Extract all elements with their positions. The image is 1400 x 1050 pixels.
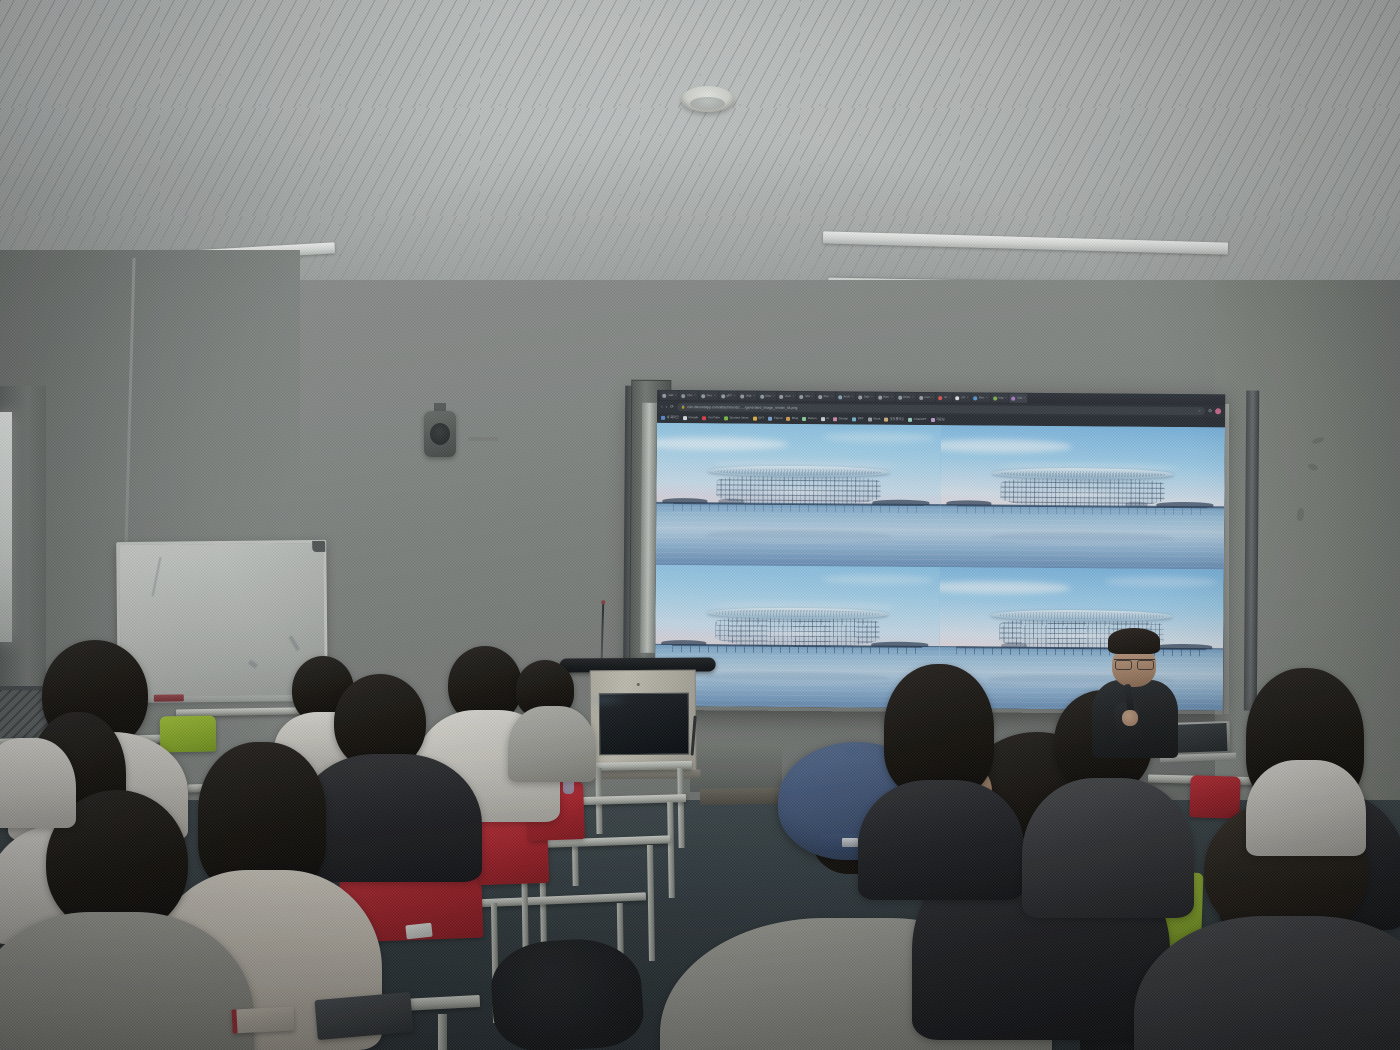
tab-close-icon[interactable]: × xyxy=(792,395,794,398)
browser-tab[interactable]: gPT× xyxy=(719,391,738,400)
browser-tab[interactable]: Nani× xyxy=(876,393,895,402)
bookmark-label: Spotted Ideas xyxy=(729,417,748,420)
back-icon[interactable]: ‹ xyxy=(661,405,663,410)
lock-icon: 🔒 xyxy=(681,405,685,409)
render-cloud xyxy=(940,439,1072,453)
tab-close-icon[interactable]: × xyxy=(851,395,853,398)
torso xyxy=(858,780,1024,900)
render-reflection xyxy=(991,508,1173,546)
notebook xyxy=(231,1006,294,1033)
tab-favicon xyxy=(780,394,784,398)
tab-title: Gall xyxy=(668,394,674,397)
browser-tab[interactable]: Arch× xyxy=(836,392,855,401)
monitor-glow xyxy=(580,692,628,708)
tab-favicon xyxy=(993,396,997,400)
eyeglasses-icon xyxy=(1114,659,1155,667)
tab-favicon xyxy=(858,395,862,399)
render-reflection xyxy=(706,647,888,685)
browser-tab[interactable]: Jdat× xyxy=(856,392,875,401)
torso xyxy=(1246,760,1366,856)
browser-tab[interactable]: AI× xyxy=(937,393,953,402)
bookmark-favicon xyxy=(683,416,687,420)
render-reflection xyxy=(707,505,889,543)
tab-close-icon[interactable]: × xyxy=(753,395,755,398)
bookmark-item[interactable]: Design xyxy=(833,417,848,421)
tab-close-icon[interactable]: × xyxy=(675,394,677,397)
browser-tab[interactable]: Disc× xyxy=(758,392,777,401)
bookmark-item[interactable]: 자료실 xyxy=(931,418,945,422)
bookmark-item[interactable]: Blog xyxy=(787,417,799,421)
tab-title: Jdat xyxy=(864,395,870,398)
presenter-hair xyxy=(1108,628,1160,654)
bookmark-favicon xyxy=(868,418,872,422)
tab-close-icon[interactable]: × xyxy=(773,395,775,398)
bookmark-favicon xyxy=(821,417,825,421)
bookmark-label: Blog xyxy=(792,417,798,420)
tab-title: Disc xyxy=(765,395,771,398)
tab-favicon xyxy=(760,394,764,398)
presenter-head xyxy=(1108,628,1160,688)
reload-icon[interactable]: ⟳ xyxy=(670,405,674,410)
extensions-icon[interactable]: ⚙ xyxy=(1208,409,1212,414)
tab-close-icon[interactable]: × xyxy=(734,394,736,397)
window-light-strip xyxy=(0,412,12,642)
render-top-left xyxy=(656,423,941,567)
tab-favicon xyxy=(838,395,842,399)
tab-favicon xyxy=(955,396,959,400)
smartphone xyxy=(405,923,432,940)
bookmark-item[interactable]: Google xyxy=(683,416,699,420)
bookmark-favicon xyxy=(768,417,772,421)
tab-favicon xyxy=(818,395,822,399)
reflection-roof xyxy=(706,674,888,685)
bookmark-label: Figma xyxy=(774,417,783,420)
tab-title: Mid xyxy=(805,395,810,398)
tab-close-icon[interactable]: × xyxy=(949,396,951,399)
tab-favicon xyxy=(721,394,725,398)
bookmark-favicon xyxy=(802,417,806,421)
reflection-roof xyxy=(991,535,1173,546)
browser-tab[interactable]: Lum× xyxy=(917,393,936,402)
bookmark-favicon xyxy=(852,417,856,421)
whiteboard-corner-bracket xyxy=(312,541,325,552)
backpack xyxy=(488,935,645,1050)
building-glow xyxy=(1024,490,1140,498)
tab-favicon xyxy=(662,393,666,397)
render-top-right xyxy=(940,425,1225,569)
wall-speaker-icon xyxy=(424,411,456,457)
tab-close-icon[interactable]: × xyxy=(932,396,934,399)
chair-green xyxy=(160,716,217,753)
url-text: cdn.discordapp.com/attachments/...../gen… xyxy=(687,405,797,410)
smoke-detector-icon xyxy=(681,86,734,112)
bookmark-favicon xyxy=(908,418,912,422)
browser-tab[interactable]: Draw× xyxy=(896,393,916,402)
tab-title: UX xyxy=(961,396,965,399)
laptop-display xyxy=(1170,723,1227,753)
screen-frame-right xyxy=(1244,391,1260,711)
tab-title: Dev xyxy=(979,396,985,399)
bookmark-favicon xyxy=(931,418,935,422)
bookmark-item[interactable]: AI xyxy=(821,417,829,421)
bookmark-item[interactable]: Work xyxy=(868,418,881,422)
lectern-knob[interactable] xyxy=(637,683,640,686)
browser-tab[interactable]: Dev× xyxy=(971,393,989,402)
building-glow xyxy=(740,488,856,496)
cap-button xyxy=(846,746,859,755)
tab-close-icon[interactable]: × xyxy=(1005,397,1007,400)
bookmark-star-icon[interactable]: ☆ xyxy=(1198,409,1201,413)
tab-close-icon[interactable]: × xyxy=(694,394,696,397)
tab-title: Nani xyxy=(883,396,889,399)
bookmark-label: 새 북마크 xyxy=(667,416,679,419)
bookmark-favicon xyxy=(753,417,757,421)
bookmark-label: PPT xyxy=(858,418,864,421)
tab-title: gPT xyxy=(726,394,732,397)
reflection-roof xyxy=(707,533,889,544)
tab-close-icon[interactable]: × xyxy=(986,396,988,399)
bookmark-favicon xyxy=(724,416,728,420)
tab-title: Gal xyxy=(1017,397,1022,400)
bookmark-label: GPT xyxy=(758,417,764,420)
render-cloud xyxy=(656,437,788,451)
bookmark-label: 자료실 xyxy=(936,419,945,422)
bookmark-favicon xyxy=(833,417,837,421)
tab-close-icon[interactable]: × xyxy=(1023,397,1025,400)
bookmark-item[interactable]: ChatGPT xyxy=(908,418,926,422)
tab-title: Lum xyxy=(924,396,930,399)
tab-favicon xyxy=(701,394,705,398)
lecture-hall-photo: Gall×Cha×Desi×gPT×Midj×Disc×Gen×Mid×Pinn… xyxy=(0,0,1400,1050)
tab-close-icon[interactable]: × xyxy=(912,396,914,399)
tab-close-icon[interactable]: × xyxy=(871,396,873,399)
tab-title: Midj xyxy=(746,395,752,398)
browser-tab[interactable]: Cha× xyxy=(679,391,698,400)
bookmark-item[interactable]: Spotted Ideas xyxy=(724,416,749,420)
profile-avatar[interactable] xyxy=(1215,408,1221,414)
tab-title: Arch xyxy=(843,395,849,398)
tab-title: AI xyxy=(944,396,947,399)
building-glow xyxy=(739,630,855,638)
desk-leg xyxy=(438,1014,447,1050)
torso xyxy=(508,706,596,782)
chair-red xyxy=(1189,775,1240,819)
tab-close-icon[interactable]: × xyxy=(811,395,813,398)
presenter-hand xyxy=(1122,710,1138,726)
tab-favicon xyxy=(799,394,803,398)
whiteboard-surface xyxy=(119,543,325,697)
bookmark-item[interactable]: 새 북마크 xyxy=(661,416,679,420)
tab-close-icon[interactable]: × xyxy=(891,396,893,399)
browser-tab[interactable]: Midj× xyxy=(738,392,757,401)
tab-favicon xyxy=(878,395,882,399)
tablet xyxy=(314,992,413,1040)
bookmark-favicon xyxy=(787,417,791,421)
browser-tab[interactable]: Gal× xyxy=(1010,394,1028,403)
tab-favicon xyxy=(973,396,977,400)
bookmark-label: ChatGPT xyxy=(914,418,927,421)
browser-tab[interactable]: Desi× xyxy=(699,391,718,400)
bookmark-favicon xyxy=(884,418,888,422)
bookmark-item[interactable]: 포트폴리오 xyxy=(884,418,904,422)
tab-title: Desi xyxy=(706,394,712,397)
tab-close-icon[interactable]: × xyxy=(714,394,716,397)
tab-favicon xyxy=(681,394,685,398)
tab-favicon xyxy=(740,394,744,398)
bookmark-item[interactable]: Figma xyxy=(768,417,782,421)
cap-buckle xyxy=(842,838,858,847)
browser-tab[interactable]: Mid× xyxy=(797,392,815,401)
tab-favicon xyxy=(939,396,943,400)
browser-tab[interactable]: Img× xyxy=(991,393,1009,402)
wall-sign xyxy=(468,437,498,441)
forward-icon[interactable]: › xyxy=(666,405,668,410)
tab-title: Gen xyxy=(785,395,791,398)
tab-title: Draw xyxy=(903,396,910,399)
tab-title: Cha xyxy=(687,394,693,397)
bookmark-item[interactable]: YouTube xyxy=(702,416,720,420)
browser-tab[interactable]: Pinn× xyxy=(816,392,835,401)
bookmark-favicon xyxy=(661,416,665,420)
tab-close-icon[interactable]: × xyxy=(831,395,833,398)
bookmark-label: Google xyxy=(688,417,698,420)
head xyxy=(884,664,994,796)
bookmark-label: 포트폴리오 xyxy=(890,418,904,421)
bookmark-item[interactable]: GPT xyxy=(753,417,765,421)
bookmark-favicon xyxy=(702,416,706,420)
bookmark-item[interactable]: Notion xyxy=(802,417,816,421)
browser-tab[interactable]: Gen× xyxy=(778,392,797,401)
bookmark-label: YouTube xyxy=(708,417,720,420)
bookmark-label: Design xyxy=(839,418,849,421)
tab-title: Pinn xyxy=(823,395,829,398)
tab-title: Img xyxy=(998,397,1003,400)
torso xyxy=(1022,778,1194,918)
whiteboard-eraser xyxy=(154,694,184,701)
browser-tab[interactable]: Gall× xyxy=(660,391,678,400)
tab-favicon xyxy=(919,395,923,399)
bookmark-label: AI xyxy=(826,418,829,421)
bookmark-label: Work xyxy=(873,418,880,421)
tab-favicon xyxy=(898,395,902,399)
tab-favicon xyxy=(1012,396,1016,400)
bookmark-label: Notion xyxy=(808,418,817,421)
bookmark-item[interactable]: PPT xyxy=(852,417,864,421)
browser-tab[interactable]: UX× xyxy=(953,393,970,402)
tab-close-icon[interactable]: × xyxy=(967,396,969,399)
